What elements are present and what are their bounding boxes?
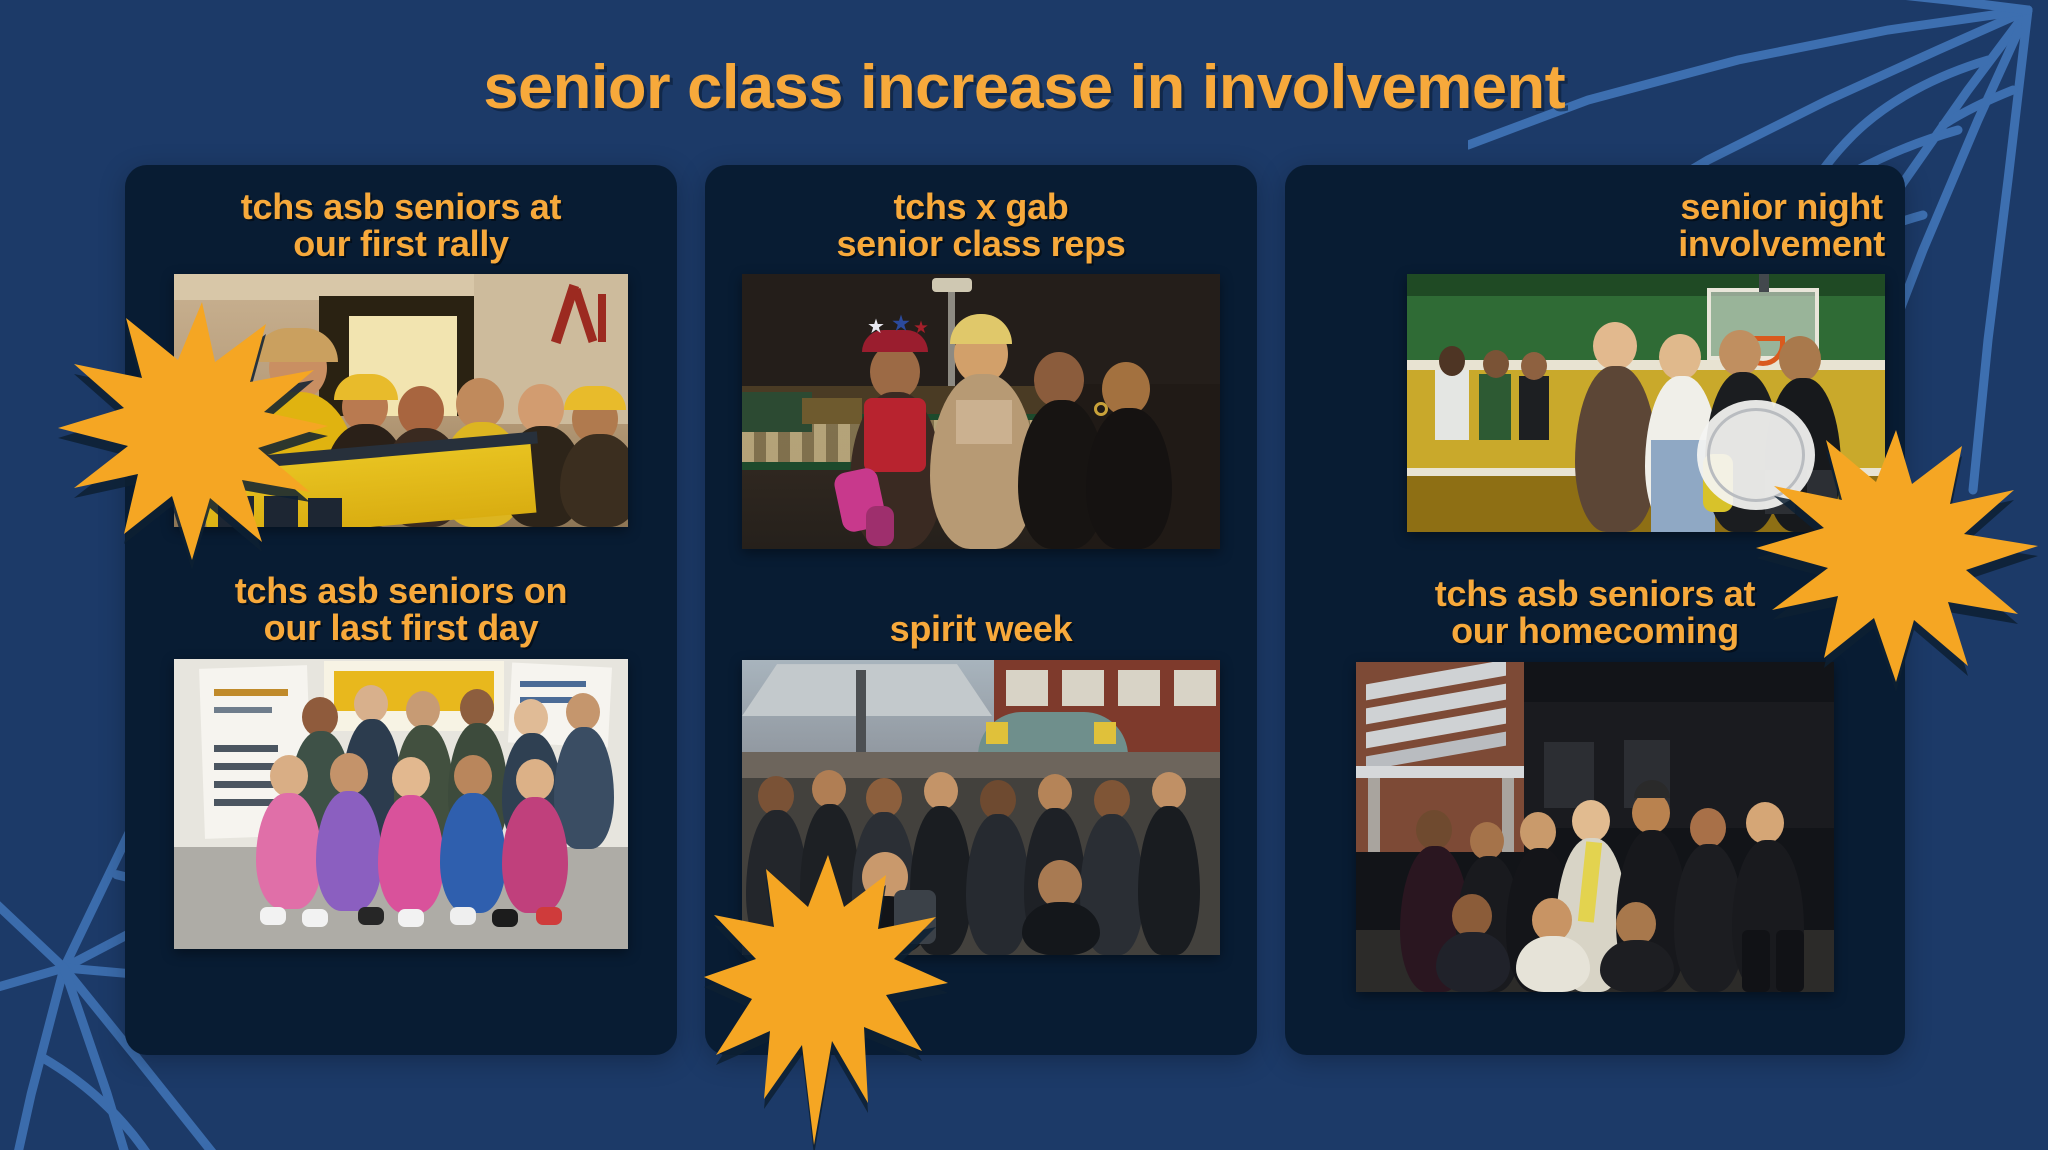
spirit-week-photo (742, 660, 1220, 955)
card-middle-heading-2: spirit week (890, 611, 1073, 648)
card-right-heading-1: senior night involvement (1678, 189, 1885, 262)
card-middle-heading-1: tchs x gab senior class reps (836, 189, 1125, 262)
card-left-heading-2: tchs asb seniors on our last first day (235, 573, 567, 646)
card-right-heading-2: tchs asb seniors at our homecoming (1435, 576, 1755, 649)
page-title: senior class increase in involvement (483, 52, 1565, 123)
homecoming-photo (1356, 662, 1834, 992)
card-left[interactable]: tchs asb seniors at our first rally (125, 165, 677, 1055)
last-first-day-photo (174, 659, 628, 949)
senior-class-reps-photo (742, 274, 1220, 549)
senior-night-photo (1407, 274, 1885, 532)
card-middle[interactable]: tchs x gab senior class reps (705, 165, 1257, 1055)
card-left-heading-1: tchs asb seniors at our first rally (241, 189, 561, 262)
first-rally-photo (174, 274, 628, 527)
cards-board: tchs asb seniors at our first rally (125, 165, 1925, 1055)
slide-title-container: senior class increase in involvement (0, 52, 2048, 123)
card-right[interactable]: senior night involvement (1285, 165, 1905, 1055)
